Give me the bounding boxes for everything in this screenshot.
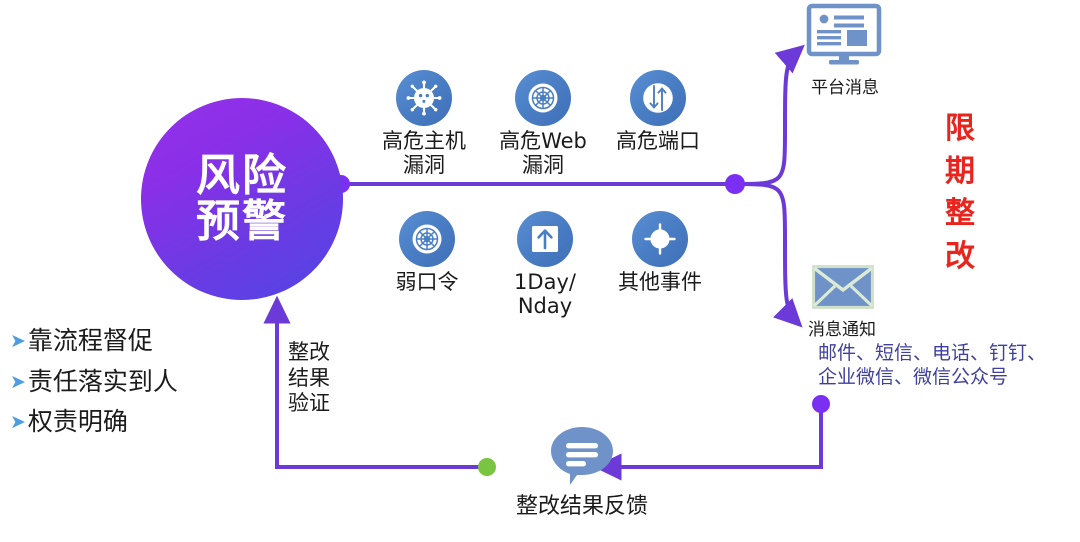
feedback-label: 整改结果反馈	[497, 488, 667, 520]
web-vulnerability-icon	[515, 70, 571, 126]
output-node-platform-message[interactable]: 平台消息	[805, 4, 883, 98]
threat-label-line-1: 高危主机	[382, 129, 466, 153]
threat-label-line-1: 弱口令	[396, 270, 459, 294]
arrow-bullet-icon: ➤	[10, 332, 26, 351]
threat-node-port[interactable]: 高危端口	[583, 70, 733, 154]
list-item: ➤ 责任落实到人	[10, 368, 250, 396]
output-label: 消息通知	[808, 315, 876, 340]
virus-icon	[396, 70, 452, 126]
channels-line-1: 邮件、短信、电话、钉钉、	[818, 342, 1070, 366]
list-item: ➤ 靠流程督促	[10, 327, 250, 355]
deadline-rectification-text: 限 期 整 改	[938, 108, 982, 278]
weak-password-icon	[399, 211, 455, 267]
list-item-label: 靠流程督促	[28, 327, 153, 355]
notify-return-dot	[812, 395, 830, 413]
threat-label-line-1: 其他事件	[618, 270, 702, 294]
crosshair-icon	[632, 211, 688, 267]
risk-warning-circle[interactable]: 风险 预警	[141, 98, 343, 300]
port-arrows-icon	[630, 70, 686, 126]
output-label: 平台消息	[811, 73, 883, 98]
channels-line-2: 企业微信、微信公众号	[818, 366, 1070, 390]
threat-label-line-2: 漏洞	[403, 153, 445, 177]
speech-bubble-icon	[497, 425, 667, 487]
output-node-message-notify[interactable]: 消息通知	[812, 265, 876, 340]
threat-node-other-events[interactable]: 其他事件	[585, 211, 735, 295]
risk-warning-line-2: 预警	[196, 199, 288, 245]
spine-branch-dot	[725, 174, 745, 194]
envelope-icon	[812, 265, 876, 314]
arrow-bullet-icon: ➤	[10, 413, 26, 432]
notification-channels-text: 邮件、短信、电话、钉钉、 企业微信、微信公众号	[818, 342, 1070, 390]
threat-label-line-1: 1Day/	[514, 270, 576, 294]
diagram-canvas: 风险 预警	[0, 0, 1080, 542]
deadline-char-4: 改	[938, 236, 982, 279]
list-item-label: 责任落实到人	[28, 368, 178, 396]
threat-label-line-2: Nday	[518, 294, 572, 318]
verification-line-3: 验证	[288, 391, 338, 417]
threat-label-line-1: 高危端口	[616, 129, 700, 153]
threat-label: 其他事件	[585, 271, 735, 295]
threat-label-line-2: 漏洞	[522, 153, 564, 177]
deadline-char-2: 期	[938, 151, 982, 194]
feedback-node[interactable]: 整改结果反馈	[497, 425, 667, 520]
monitor-icon	[805, 4, 883, 71]
threat-label: 高危端口	[583, 130, 733, 154]
list-item: ➤ 权责明确	[10, 408, 250, 436]
arrow-bullet-icon: ➤	[10, 373, 26, 392]
risk-warning-line-1: 风险	[196, 153, 288, 199]
threat-label-line-1: 高危Web	[499, 129, 587, 153]
deadline-char-3: 整	[938, 193, 982, 236]
principles-list: ➤ 靠流程督促 ➤ 责任落实到人 ➤ 权责明确	[10, 327, 250, 449]
feedback-dot	[478, 458, 496, 476]
upload-arrow-icon	[517, 211, 573, 267]
verification-line-1: 整改	[288, 340, 338, 366]
verification-line-2: 结果	[288, 366, 338, 392]
verification-caption: 整改 结果 验证	[288, 340, 338, 417]
deadline-char-1: 限	[938, 108, 982, 151]
list-item-label: 权责明确	[28, 408, 128, 436]
